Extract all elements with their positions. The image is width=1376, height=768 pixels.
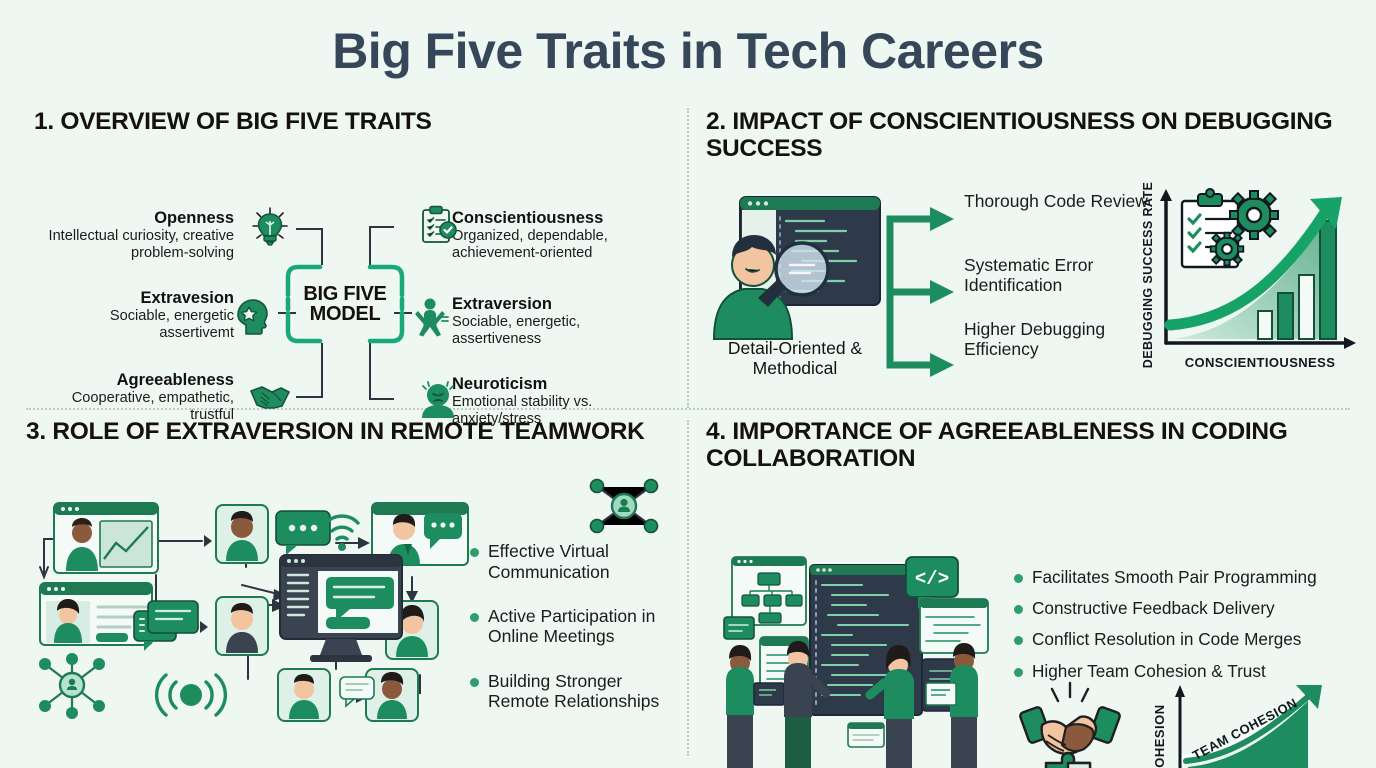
trait-name: Conscientiousness [452,209,652,227]
developer-magnifier-illustration [706,191,886,341]
section-3-heading: 3. ROLE OF EXTRAVERSION IN REMOTE TEAMWO… [26,418,678,445]
section-overview: 1. OVERVIEW OF BIG FIVE TRAITS [34,108,674,398]
section-extraversion-remote: 3. ROLE OF EXTRAVERSION IN REMOTE TEAMWO… [26,418,678,758]
section-4-heading: 4. IMPORTANCE OF AGREEABLENESS IN CODING… [706,418,1358,473]
handshake-puzzle-illustration [1004,679,1136,768]
bullet-text: Effective Virtual Communication [488,541,688,582]
team-coding-illustration: </> [702,543,1018,768]
clipboard-check-icon [416,203,460,247]
debugging-success-chart: DEBUGGING SUCCESS RATE CONSCIENTIOUSNESS [1130,175,1370,380]
bullet-text: Building Stronger Remote Relationships [488,671,688,712]
section-agreeableness-collaboration: 4. IMPORTANCE OF AGREEABLENESS IN CODING… [706,418,1358,758]
list-item: Building Stronger Remote Relationships [470,671,688,712]
section-4-body: </> [706,487,1358,755]
trait-agreeableness: Agreeableness Cooperative, empathetic, t… [34,371,234,423]
trait-openness: Openness Intellectual curiosity, creativ… [34,209,234,261]
trait-desc: Sociable, energetic assertivemt [34,308,234,342]
remote-teamwork-illustration [26,493,474,719]
section-2-heading: 2. IMPACT OF CONSCIENTIOUSNESS ON DEBUGG… [706,108,1356,163]
chart2-x-label: CONSCIENTIOUSNESS [1185,355,1336,370]
trait-extraversion: Extraversion Sociable, energetic, assert… [452,295,652,347]
stressed-face-icon [416,377,460,421]
bullet-dot [470,548,479,557]
bullet-dot [470,613,479,622]
head-star-icon [230,293,274,337]
section-1-heading: 1. OVERVIEW OF BIG FIVE TRAITS [34,108,674,135]
big-five-model-box: BIG FIVE MODEL [286,265,404,343]
team-cohesion-chart: TEAM COHESION COHESION AGREEEABLENESS [1142,675,1364,768]
bullet-text: Conflict Resolution in Code Merges [1032,629,1301,649]
bullet-dot [470,678,479,687]
trait-desc: Organized, dependable, achievement-orien… [452,228,652,262]
bullet-dot [1014,636,1023,645]
trait-conscientiousness: Conscientiousness Organized, dependable,… [452,209,652,261]
section-2-body: Detail-Oriented & Methodical [706,191,1356,401]
section-conscientiousness-debugging: 2. IMPACT OF CONSCIENTIOUSNESS ON DEBUGG… [706,108,1356,398]
bullet-text: Facilitates Smooth Pair Programming [1032,567,1317,587]
trait-name: Extraversion [452,295,652,313]
trait-name: Neuroticism [452,375,652,393]
branch-arrows [882,197,972,387]
bullet-text: Constructive Feedback Delivery [1032,598,1275,618]
bullet-text: Active Participation in Online Meetings [488,606,688,647]
list-item: Conflict Resolution in Code Merges [1014,629,1366,649]
center-line-2: MODEL [310,304,381,325]
bullet-dot [1014,668,1023,677]
page-title: Big Five Traits in Tech Careers [0,22,1376,80]
developer-caption: Detail-Oriented & Methodical [700,339,890,379]
trait-desc: Sociable, energetic, assertiveness [452,314,652,348]
bullet-dot [1014,574,1023,583]
lightbulb-icon [248,205,292,249]
big-five-map: BIG FIVE MODEL Openness Intellectual cur… [34,153,674,383]
trait-desc: Intellectual curiosity, creative problem… [34,228,234,262]
chart4-y-label: COHESION [1152,704,1167,768]
bullet-dot [1014,605,1023,614]
trait-name: Extravesion [34,289,234,307]
chart2-y-label: DEBUGGING SUCCESS RATE [1141,182,1155,368]
center-line-1: BIG FIVE [303,284,386,305]
person-arms-up-icon [412,295,456,339]
trait-name: Openness [34,209,234,227]
list-item: Facilitates Smooth Pair Programming [1014,567,1366,587]
collaboration-bullets: Facilitates Smooth Pair Programming Cons… [1014,567,1366,692]
list-item: Constructive Feedback Delivery [1014,598,1366,618]
code-tag-icon: </> [915,568,949,590]
list-item: Active Participation in Online Meetings [470,606,688,647]
list-item: Effective Virtual Communication [470,541,688,582]
infographic-page: Big Five Traits in Tech Careers 1. OVERV… [0,0,1376,768]
trait-extravesion: Extravesion Sociable, energetic assertiv… [34,289,234,341]
remote-teamwork-bullets: Effective Virtual Communication Active P… [470,541,688,735]
section-3-body: Effective Virtual Communication Active P… [26,459,678,719]
trait-name: Agreeableness [34,371,234,389]
divider-vertical-top [687,108,689,408]
network-nodes-icon [584,477,664,535]
handshake-icon [248,375,292,419]
big-five-model-label: BIG FIVE MODEL [286,265,404,343]
